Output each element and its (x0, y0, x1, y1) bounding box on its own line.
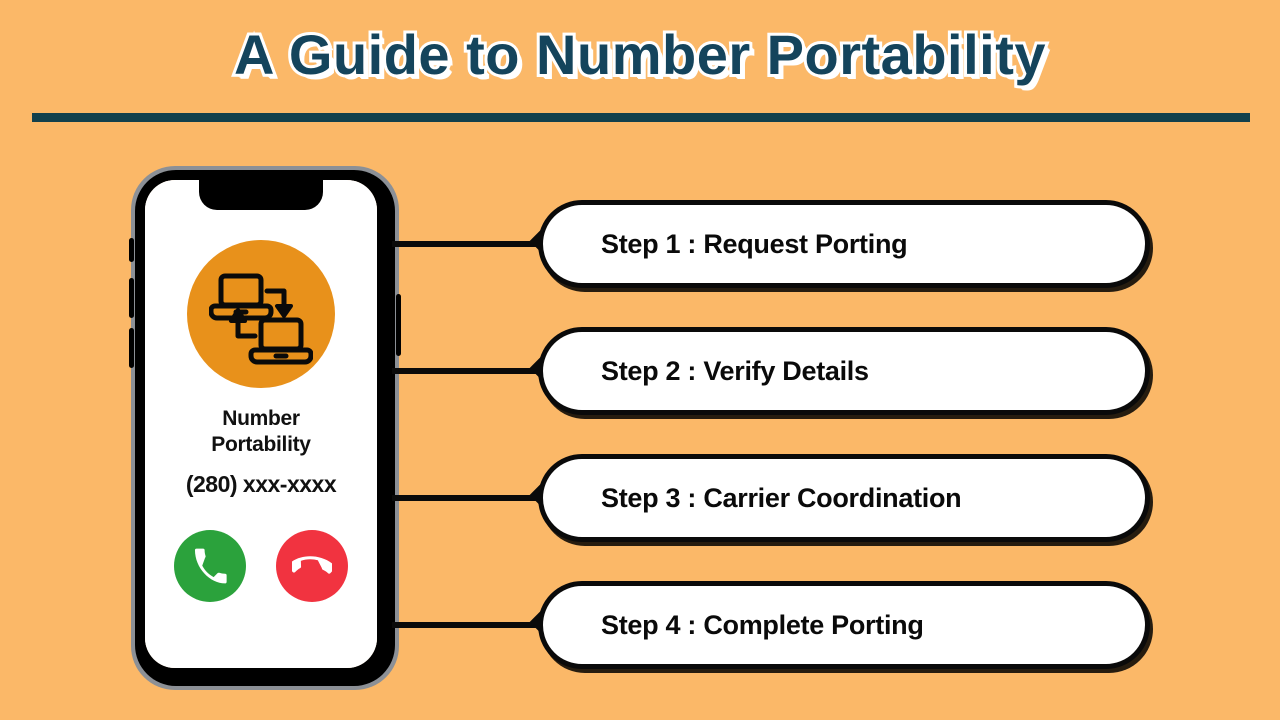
step-label-2: Step 2 : Verify Details (601, 356, 869, 387)
step-label-1: Step 1 : Request Porting (601, 229, 907, 260)
volume-down-button[interactable] (129, 328, 134, 368)
power-button[interactable] (396, 294, 401, 356)
phone-decline-icon (292, 546, 332, 586)
decline-call-button[interactable] (276, 530, 348, 602)
page-title: A Guide to Number Portability (0, 22, 1280, 87)
step-label-4: Step 4 : Complete Porting (601, 610, 924, 641)
infographic-canvas: A Guide to Number Portability (0, 0, 1280, 720)
phone-handset-icon (191, 547, 229, 585)
step-card-1[interactable]: Step 1 : Request Porting (538, 200, 1150, 288)
call-actions (145, 530, 377, 602)
step-label-3: Step 3 : Carrier Coordination (601, 483, 961, 514)
connector-step-2 (392, 368, 542, 374)
title-divider (32, 113, 1250, 122)
phone-mockup: Number Portability (280) xxx-xxxx (131, 166, 399, 690)
step-card-4[interactable]: Step 4 : Complete Porting (538, 581, 1150, 669)
app-title: Number Portability (211, 406, 310, 457)
connector-step-1 (392, 241, 542, 247)
app-title-line-2: Portability (211, 432, 310, 458)
connector-step-4 (392, 622, 542, 628)
phone-number: (280) xxx-xxxx (186, 471, 336, 498)
screen-content: Number Portability (280) xxx-xxxx (145, 180, 377, 668)
step-card-2[interactable]: Step 2 : Verify Details (538, 327, 1150, 415)
app-icon-circle (187, 240, 335, 388)
step-card-3[interactable]: Step 3 : Carrier Coordination (538, 454, 1150, 542)
phone-screen: Number Portability (280) xxx-xxxx (145, 180, 377, 668)
accept-call-button[interactable] (174, 530, 246, 602)
device-data-transfer-icon (209, 262, 313, 366)
connector-step-3 (392, 495, 542, 501)
app-title-line-1: Number (211, 406, 310, 432)
volume-up-button[interactable] (129, 278, 134, 318)
mute-switch[interactable] (129, 238, 134, 262)
phone-notch (199, 180, 323, 210)
